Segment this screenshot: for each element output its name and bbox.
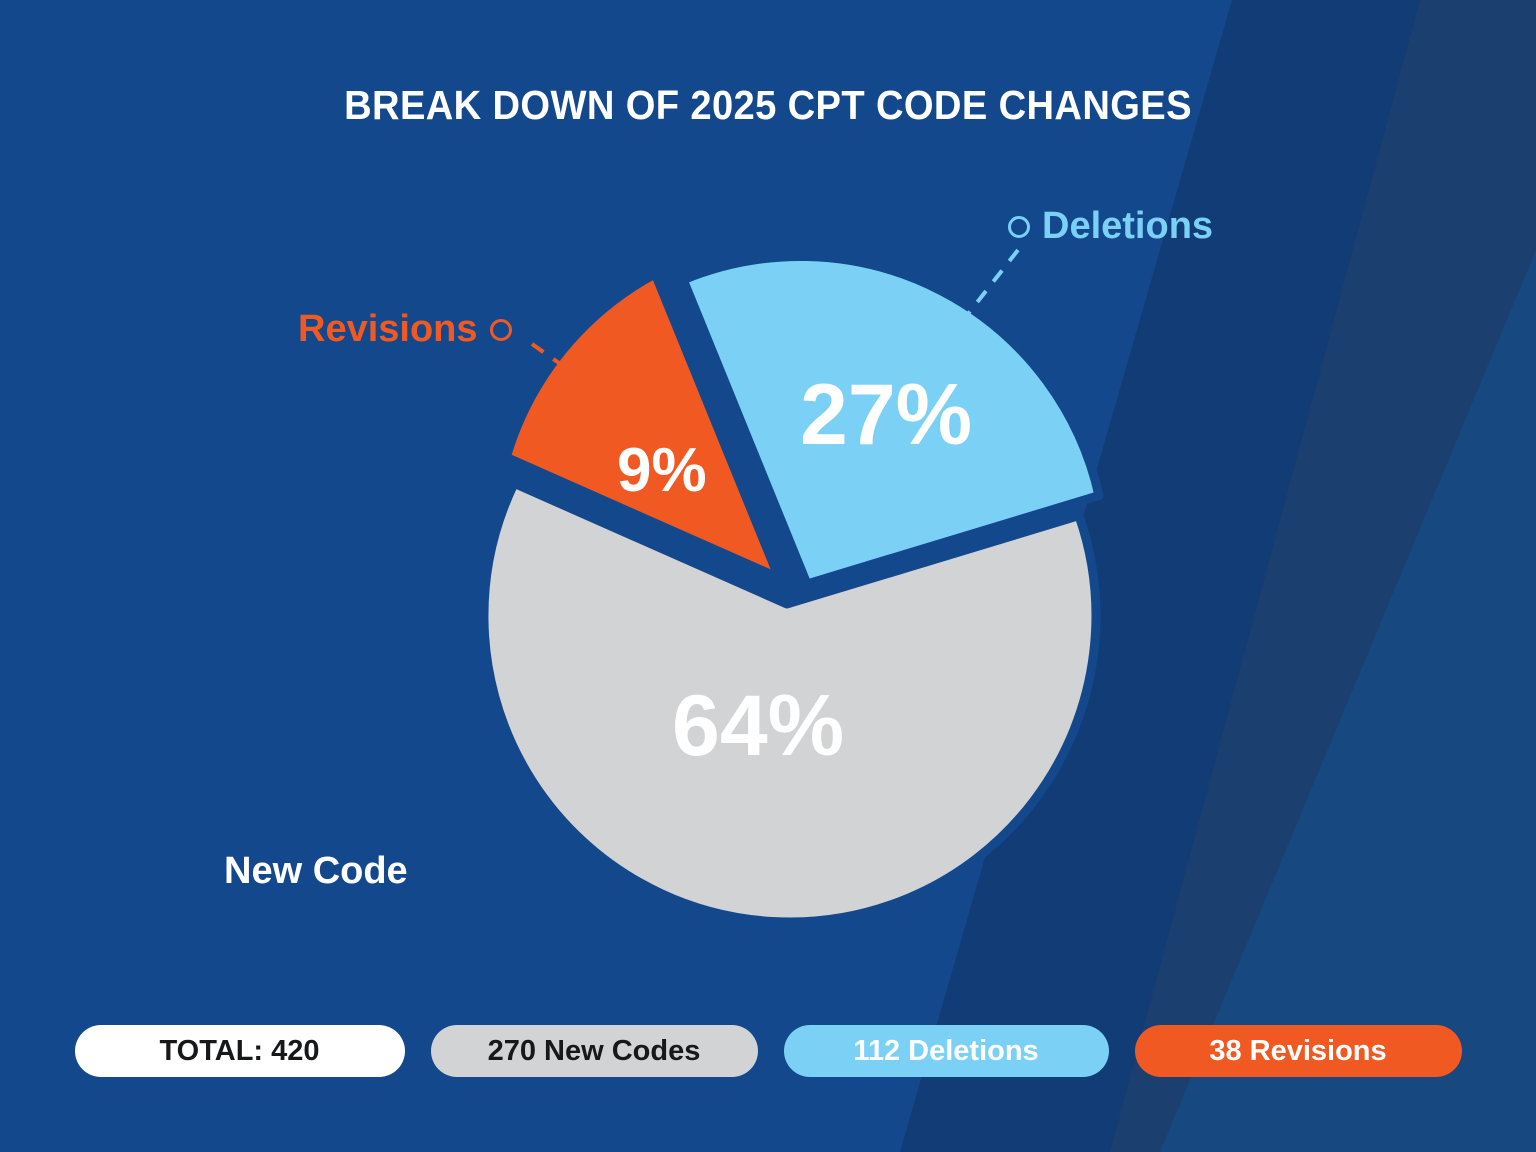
slice-value-new-code: 64%: [672, 683, 844, 769]
callout-deletions-label: Deletions: [1042, 205, 1213, 248]
callout-revisions[interactable]: Revisions: [298, 308, 512, 351]
circle-marker-icon: [1008, 216, 1030, 238]
legend-pill-row: TOTAL: 420 270 New Codes 112 Deletions 3…: [0, 1025, 1536, 1077]
callout-revisions-label: Revisions: [298, 308, 478, 351]
legend-pill-new-codes[interactable]: 270 New Codes: [431, 1025, 758, 1077]
page-title: BREAK DOWN OF 2025 CPT CODE CHANGES: [54, 82, 1482, 129]
slice-value-revisions: 9%: [617, 440, 707, 502]
legend-pill-deletions[interactable]: 112 Deletions: [784, 1025, 1109, 1077]
slice-value-deletions: 27%: [800, 372, 972, 458]
circle-marker-icon: [490, 319, 512, 341]
infographic-canvas: BREAK DOWN OF 2025 CPT CODE CHANGES Dele…: [0, 0, 1536, 1152]
callout-deletions[interactable]: Deletions: [1008, 205, 1213, 248]
callout-new-code-label: New Code: [224, 850, 408, 893]
background-decoration: [0, 0, 1536, 1152]
legend-pill-revisions[interactable]: 38 Revisions: [1135, 1025, 1462, 1077]
legend-pill-total[interactable]: TOTAL: 420: [75, 1025, 405, 1077]
